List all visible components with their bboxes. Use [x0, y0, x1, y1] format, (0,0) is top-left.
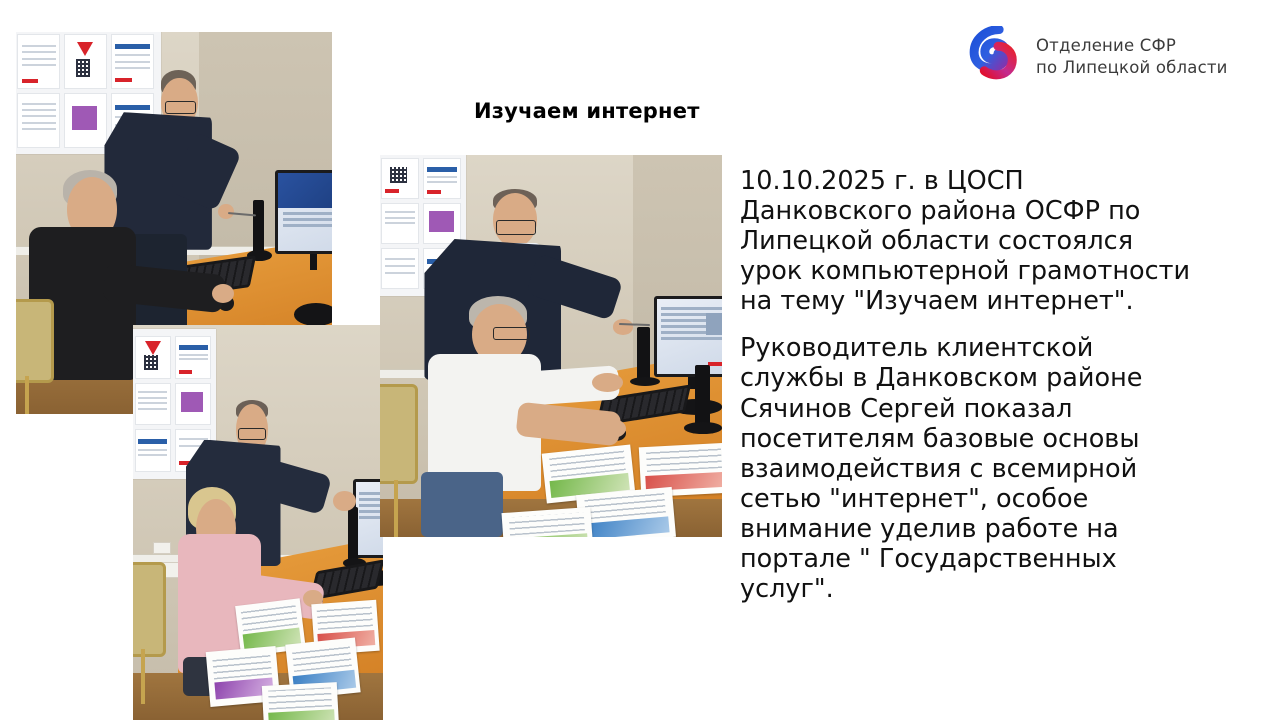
photo-bottom-left [133, 325, 383, 720]
monitor-screen [356, 482, 383, 555]
chair-back [133, 562, 166, 657]
monitor-stand [310, 254, 317, 270]
poster-card [64, 93, 107, 148]
poster-card [175, 336, 211, 378]
speaker-base [684, 422, 722, 433]
standing-man-glasses [496, 220, 535, 235]
seated-man-jeans [421, 472, 503, 537]
brand-block: Отделение СФРпо Липецкой области [962, 26, 1228, 88]
chair-back [380, 384, 418, 483]
monitor [275, 170, 332, 254]
speaker [695, 365, 710, 430]
speaker [637, 327, 651, 380]
brand-line-2: по Липецкой области [1036, 58, 1228, 77]
poster-card [17, 93, 60, 148]
chair-leg [394, 480, 398, 537]
poster-card [423, 203, 461, 244]
body-copy: 10.10.2025 г. в ЦОСП Данковского района … [740, 166, 1195, 621]
monitor-base [294, 303, 332, 326]
chair-back [16, 299, 54, 383]
photo-scene [380, 155, 722, 537]
seated-man-hand [599, 419, 626, 438]
speaker-base [630, 377, 661, 387]
paragraph-1: 10.10.2025 г. в ЦОСП Данковского района … [740, 166, 1195, 316]
leaflet [262, 683, 339, 720]
standing-man-glasses [165, 101, 197, 114]
sfr-logo-icon [962, 26, 1022, 88]
leaflet [502, 507, 594, 537]
speaker [348, 507, 358, 562]
seated-man-glasses [493, 327, 531, 340]
monitor-screen [657, 299, 722, 373]
brand-line-1: Отделение СФР [1036, 36, 1176, 55]
chair-leg [25, 376, 29, 414]
poster-card [135, 429, 171, 471]
poster-card [135, 383, 171, 425]
poster-card [381, 248, 419, 289]
poster-card [17, 34, 60, 89]
photo-scene [133, 325, 383, 720]
poster-card [175, 383, 211, 425]
poster-card [381, 158, 419, 199]
photo-center [380, 155, 722, 537]
brand-title: Отделение СФРпо Липецкой области [1036, 35, 1228, 79]
paragraph-2: Руководитель клиентской службы в Данковс… [740, 333, 1195, 604]
wall-socket [153, 542, 171, 554]
presentation-slide: Отделение СФРпо Липецкой области Изучаем… [0, 0, 1280, 720]
standing-man-glasses [238, 428, 266, 440]
page-title: Изучаем интернет [474, 99, 700, 123]
seated-man-gesture-hand [592, 373, 623, 392]
poster-card [423, 158, 461, 199]
standing-man-pointing-hand [333, 491, 356, 511]
monitor [654, 296, 722, 376]
poster-card [381, 203, 419, 244]
chair-leg [141, 649, 145, 704]
poster-card [111, 34, 154, 89]
poster-card [64, 34, 107, 89]
monitor-screen [278, 173, 332, 251]
poster-card [135, 336, 171, 378]
speaker [253, 200, 264, 253]
standing-man-hand [613, 319, 634, 334]
